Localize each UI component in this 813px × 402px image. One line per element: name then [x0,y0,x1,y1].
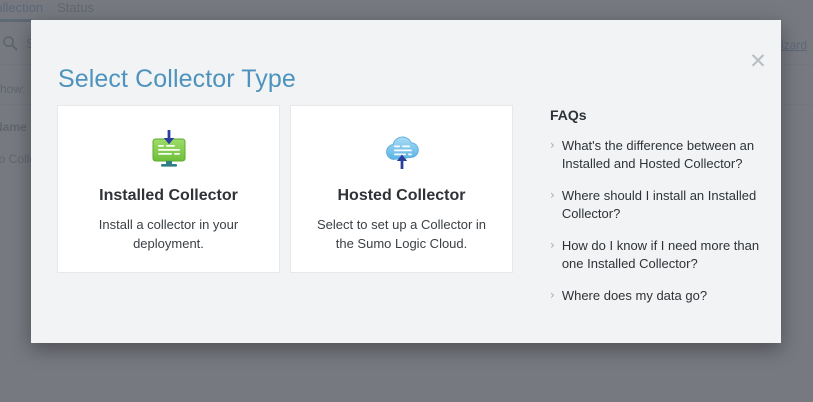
installed-collector-card[interactable]: Installed Collector Install a collector … [57,105,280,273]
collector-type-cards: Installed Collector Install a collector … [57,105,513,273]
close-icon[interactable]: ✕ [747,50,769,72]
faq-question: Where should I install an Installed Coll… [562,187,780,223]
select-collector-type-dialog: ✕ Select Collector Type [31,20,781,343]
hosted-collector-card[interactable]: Hosted Collector Select to set up a Coll… [290,105,513,273]
faq-item[interactable]: › Where does my data go? [550,287,780,305]
faq-item[interactable]: › How do I know if I need more than one … [550,237,780,273]
chevron-right-icon: › [550,287,555,304]
dialog-body: Installed Collector Install a collector … [31,105,781,319]
faq-item[interactable]: › What's the difference between an Insta… [550,137,780,173]
chevron-right-icon: › [550,137,555,154]
installed-collector-icon [142,128,196,176]
faq-question: What's the difference between an Install… [562,137,780,173]
hosted-collector-description: Select to set up a Collector in the Sumo… [312,215,492,253]
chevron-right-icon: › [550,237,555,254]
faq-panel: FAQs › What's the difference between an … [550,105,780,319]
dialog-title: Select Collector Type [58,65,296,94]
chevron-right-icon: › [550,187,555,204]
faq-question: How do I know if I need more than one In… [562,237,780,273]
installed-collector-description: Install a collector in your deployment. [79,215,259,253]
screen: Collection Status Search Show: Name No C… [0,0,813,402]
faq-heading: FAQs [550,107,780,123]
faq-question: Where does my data go? [562,287,707,305]
installed-collector-title: Installed Collector [99,187,238,205]
hosted-collector-title: Hosted Collector [337,187,465,205]
faq-item[interactable]: › Where should I install an Installed Co… [550,187,780,223]
hosted-collector-icon [375,128,429,176]
